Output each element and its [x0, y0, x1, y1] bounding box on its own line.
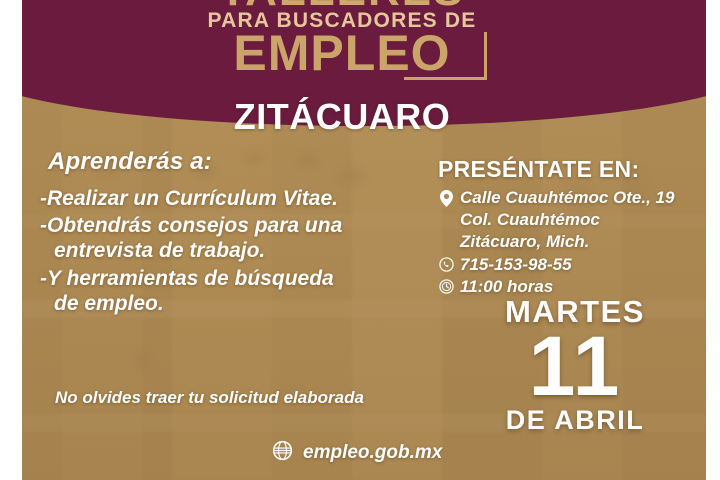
learning-objectives-section: Aprenderás a: -Realizar un Currículum Vi…	[40, 148, 415, 318]
learning-heading: Aprenderás a:	[48, 148, 415, 176]
address-line-3: Zitácuaro, Mich.	[460, 231, 708, 252]
left-white-margin	[0, 0, 22, 480]
learning-bullet-list: -Realizar un Currículum Vitae. -Obtendrá…	[40, 186, 415, 316]
address-line-2: Col. Cuauhtémoc	[460, 209, 708, 230]
address-row: Calle Cuauhtémoc Ote., 19	[438, 187, 708, 208]
bullet-line-1: -Obtendrás consejos para una	[40, 214, 342, 237]
bracket-horizontal-accent	[404, 77, 487, 80]
event-date-block: MARTES 11 DE ABRIL	[460, 296, 690, 434]
reminder-note: No olvides traer tu solicitud elaborada	[55, 388, 455, 408]
bullet-line-1: -Realizar un Currículum Vitae.	[40, 187, 338, 210]
date-month: DE ABRIL	[460, 407, 690, 434]
bullet-line-1: -Y herramientas de búsqueda	[40, 267, 334, 290]
header-city: ZITÁCUARO	[0, 96, 684, 138]
globe-icon	[272, 440, 293, 466]
date-day-number: 11	[460, 327, 690, 407]
right-white-margin	[706, 0, 720, 480]
list-item: -Obtendrás consejos para una entrevista …	[40, 213, 415, 263]
address-line-1: Calle Cuauhtémoc Ote., 19	[460, 187, 674, 208]
list-item: -Y herramientas de búsqueda de empleo.	[40, 266, 415, 316]
location-pin-icon	[438, 187, 454, 207]
bullet-line-2: de empleo.	[40, 291, 415, 316]
clock-icon	[438, 276, 454, 294]
website-footer[interactable]: empleo.gob.mx	[272, 440, 442, 466]
venue-heading: PRESÉNTATE EN:	[438, 156, 708, 183]
list-item: -Realizar un Currículum Vitae.	[40, 186, 415, 211]
phone-number: 715-153-98-55	[460, 254, 572, 275]
venue-section: PRESÉNTATE EN: Calle Cuauhtémoc Ote., 19…	[438, 156, 708, 298]
flyer-poster: TALLERES PARA BUSCADORES DE EMPLEO ZITÁC…	[0, 0, 720, 480]
bullet-line-2: entrevista de trabajo.	[40, 238, 415, 263]
bracket-vertical-accent	[484, 32, 487, 80]
header-title-main: EMPLEO	[0, 28, 684, 78]
phone-row: 715-153-98-55	[438, 254, 708, 275]
whatsapp-icon	[438, 254, 454, 272]
website-url[interactable]: empleo.gob.mx	[303, 442, 442, 464]
